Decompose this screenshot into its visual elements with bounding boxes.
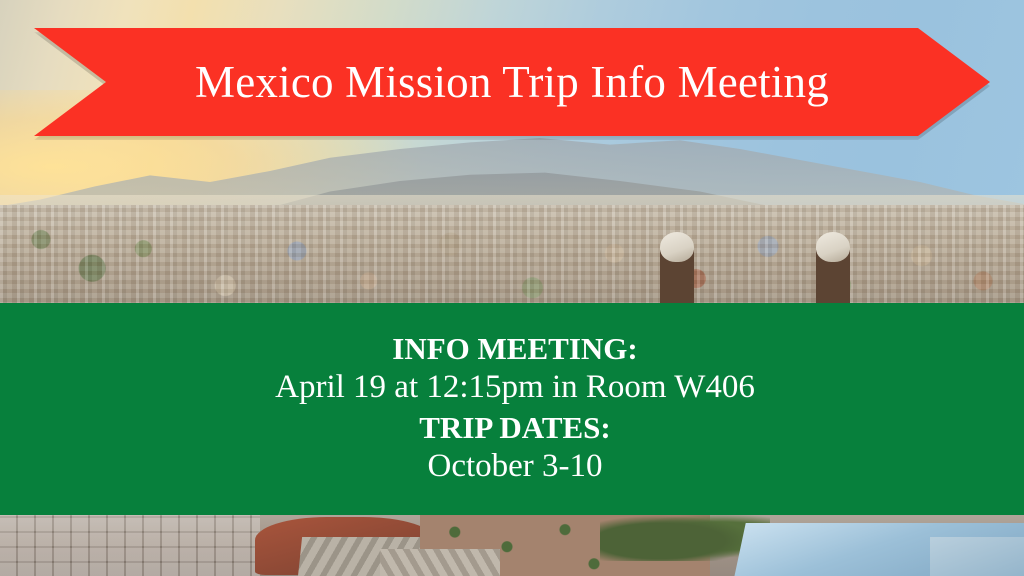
ribbon-shape: Mexico Mission Trip Info Meeting [34, 28, 990, 136]
info-meeting-details: April 19 at 12:15pm in Room W406 [275, 367, 755, 409]
tower-dome [660, 232, 694, 262]
title-ribbon: Mexico Mission Trip Info Meeting [34, 28, 990, 136]
trip-dates-details: October 3-10 [427, 446, 602, 488]
info-meeting-heading: INFO MEETING: [392, 330, 637, 367]
tower-dome [816, 232, 850, 262]
stone-building [0, 515, 260, 576]
info-text-block: INFO MEETING: April 19 at 12:15pm in Roo… [170, 303, 860, 515]
plaza-aerial-view [0, 515, 1024, 576]
poster-canvas: Mexico Mission Trip Info Meeting [0, 0, 1024, 576]
poster-title: Mexico Mission Trip Info Meeting [195, 60, 829, 105]
trip-dates-heading: TRIP DATES: [419, 409, 611, 446]
walkway [380, 549, 500, 576]
metal-roof-small [930, 537, 1024, 576]
info-band: INFO MEETING: April 19 at 12:15pm in Roo… [0, 303, 1024, 515]
